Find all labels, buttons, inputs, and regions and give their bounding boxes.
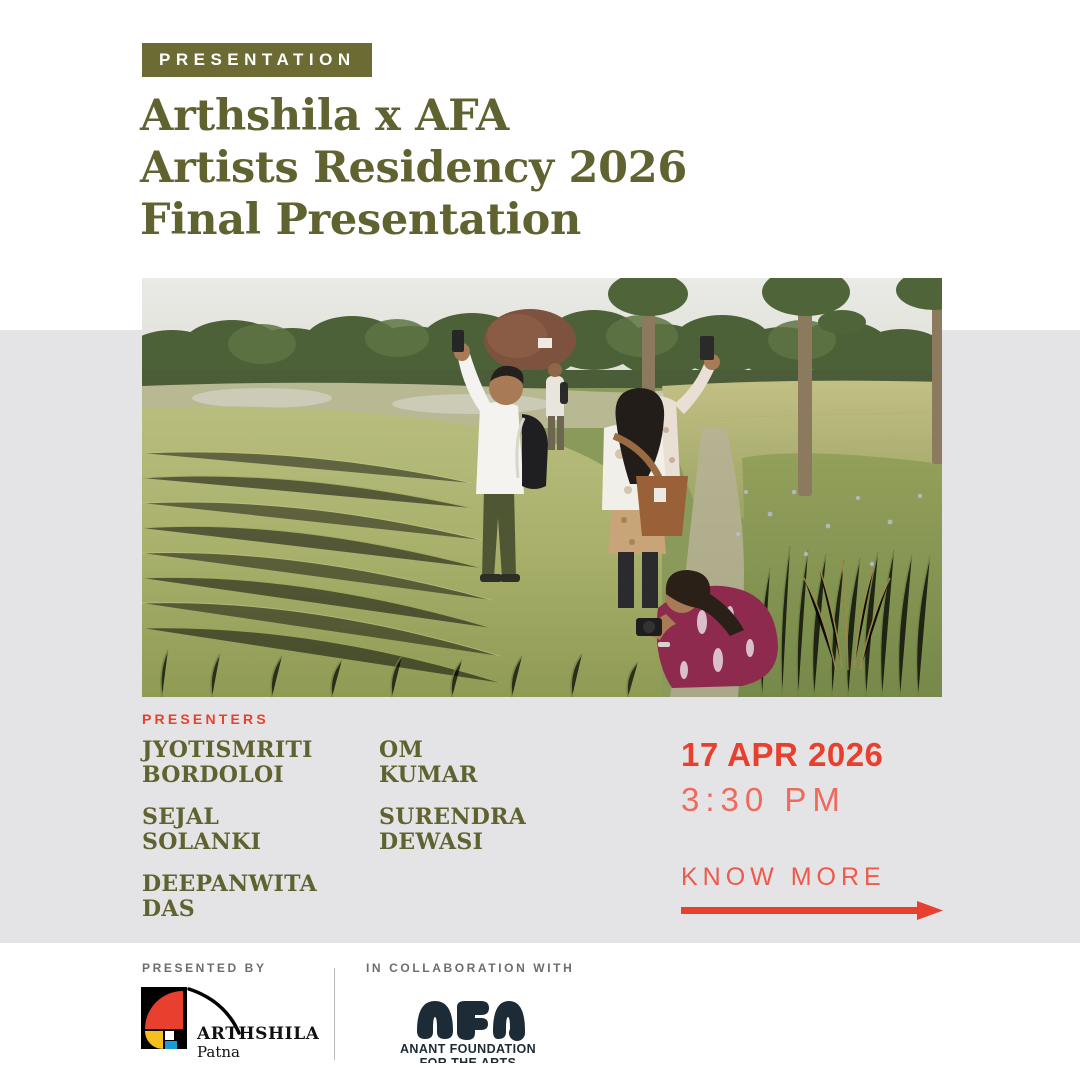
presenter-item: JYOTISMRITI BORDOLOI: [142, 738, 317, 788]
afa-logo: ANANT FOUNDATION FOR THE ARTS: [393, 985, 543, 1068]
title-line-3: Final Presentation: [140, 194, 900, 246]
event-date: 17 APR 2026: [681, 737, 883, 773]
photo-illustration: [142, 278, 942, 697]
presenter-item: SURENDRA DEWASI: [379, 805, 526, 855]
event-photo: [142, 278, 942, 697]
footer-divider: [334, 968, 335, 1060]
presenter-last-name: SOLANKI: [142, 830, 317, 855]
presenter-first-name: OM: [379, 738, 526, 763]
presenter-last-name: DAS: [142, 897, 317, 922]
afa-name-line-1: ANANT FOUNDATION: [400, 1042, 536, 1056]
arthshila-city: Patna: [197, 1043, 240, 1061]
presenter-item: DEEPANWITA DAS: [142, 872, 317, 922]
presenter-first-name: SURENDRA: [379, 805, 526, 830]
presenters-column-one: JYOTISMRITI BORDOLOI SEJAL SOLANKI DEEPA…: [142, 738, 317, 922]
page-title: Arthshila x AFA Artists Residency 2026 F…: [140, 90, 900, 246]
presented-by-label: PRESENTED BY: [142, 961, 267, 975]
arthshila-logo: ARTHSHILA Patna: [139, 985, 319, 1068]
event-time: 3:30 PM: [681, 780, 846, 820]
afa-logo-mark: ANANT FOUNDATION FOR THE ARTS: [393, 985, 543, 1063]
afa-name-line-2: FOR THE ARTS: [420, 1056, 517, 1063]
presenter-first-name: DEEPANWITA: [142, 872, 317, 897]
collaboration-label: IN COLLABORATION WITH: [366, 961, 574, 975]
arrow-right-icon: [681, 898, 943, 924]
know-more-button[interactable]: KNOW MORE: [681, 862, 943, 924]
title-line-1: Arthshila x AFA: [140, 90, 900, 142]
presenter-last-name: DEWASI: [379, 830, 526, 855]
presentation-badge: PRESENTATION: [142, 43, 372, 77]
presenter-item: OM KUMAR: [379, 738, 526, 788]
know-more-label: KNOW MORE: [681, 862, 943, 892]
presenter-last-name: BORDOLOI: [142, 763, 317, 788]
presenter-first-name: SEJAL: [142, 805, 317, 830]
arthshila-wordmark: ARTHSHILA: [196, 1024, 319, 1044]
arthshila-logo-mark: ARTHSHILA Patna: [139, 985, 319, 1063]
presenters-label: PRESENTERS: [142, 711, 269, 727]
title-line-2: Artists Residency 2026: [140, 142, 900, 194]
presenters-column-two: OM KUMAR SURENDRA DEWASI: [379, 738, 526, 855]
presenter-last-name: KUMAR: [379, 763, 526, 788]
presenter-first-name: JYOTISMRITI: [142, 738, 317, 763]
presenter-item: SEJAL SOLANKI: [142, 805, 317, 855]
